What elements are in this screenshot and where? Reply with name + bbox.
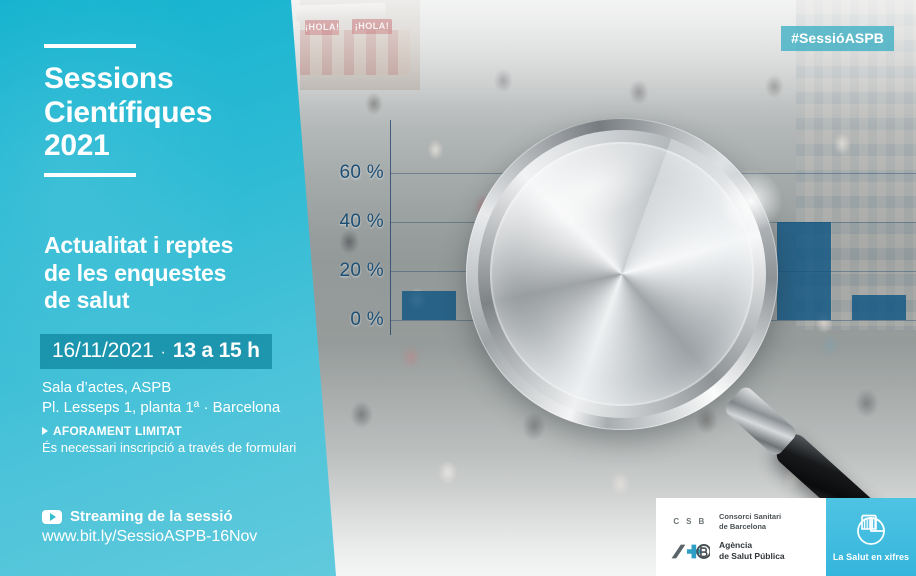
logo-bar: C S B Consorci Sanitari de Barcelona Agè… [656, 498, 916, 576]
venue-line-1: Sala d’actes, ASPB [42, 378, 332, 398]
title-line-1: Sessions [44, 62, 294, 96]
csb-name: Consorci Sanitari de Barcelona [719, 512, 781, 531]
date-separator: · [161, 344, 166, 362]
capacity-notice: AFORAMENT LIMITAT [42, 424, 182, 438]
title-rule-bottom [44, 173, 136, 177]
chart-bar [627, 251, 681, 320]
chart-bar [477, 291, 531, 320]
chart-bar [402, 291, 456, 320]
salut-en-xifres-label: La Salut en xifres [833, 552, 909, 562]
bar-chart: 0 %20 %40 %60 % [330, 120, 916, 335]
poster: ¡HOLA! ¡HOLA! 0 %20 %40 %60 % Sessions C… [0, 0, 916, 576]
title-line-2: Científiques [44, 96, 294, 130]
subtitle-line-1: Actualitat i reptes [44, 232, 302, 260]
csb-monogram: C S B [670, 517, 710, 526]
chart-y-tick-label: 20 % [330, 260, 384, 282]
aspb-name-line-2: de Salut Pública [719, 551, 785, 561]
capacity-notice-label: AFORAMENT LIMITAT [53, 424, 182, 438]
aspb-name: Agència de Salut Pública [719, 540, 785, 561]
subtitle-line-2: de les enquestes [44, 260, 302, 288]
chart-bars [391, 120, 916, 335]
salut-en-xifres-badge[interactable]: La Salut en xifres [826, 498, 916, 576]
chart-bar [777, 222, 831, 320]
chart-bar [702, 227, 756, 320]
csb-logo: C S B Consorci Sanitari de Barcelona [670, 512, 816, 531]
page-title: Sessions Científiques 2021 [44, 62, 294, 163]
venue-line-2: Pl. Lesseps 1, planta 1ª · Barcelona [42, 398, 332, 418]
streaming-url-link[interactable]: www.bit.ly/SessioASPB-16Nov [42, 528, 257, 546]
triangle-bullet-icon [42, 427, 48, 435]
hashtag-badge: #SessióASPB [781, 26, 894, 51]
pie-chart-icon [852, 512, 890, 546]
streaming-label: Streaming de la sessió [70, 508, 233, 525]
aspb-name-line-1: Agència [719, 540, 752, 550]
event-time: 13 a 15 h [173, 339, 260, 363]
title-rule-top [44, 44, 136, 48]
date-time-badge: 16/11/2021 · 13 a 15 h [40, 334, 272, 369]
title-line-3: 2021 [44, 129, 294, 163]
event-date: 16/11/2021 [52, 339, 154, 363]
chart-y-tick-label: 0 % [330, 309, 384, 331]
play-icon [42, 510, 62, 524]
registration-note: És necessari inscripció a través de form… [42, 440, 342, 455]
streaming-row[interactable]: Streaming de la sessió [42, 508, 233, 525]
chart-bar [852, 295, 906, 320]
subtitle-line-3: de salut [44, 287, 302, 315]
chart-y-tick-label: 60 % [330, 162, 384, 184]
session-subtitle: Actualitat i reptes de les enquestes de … [44, 232, 302, 315]
csb-name-line-2: de Barcelona [719, 522, 766, 531]
aspb-monogram-icon [670, 543, 710, 560]
institution-logos: C S B Consorci Sanitari de Barcelona Agè… [656, 498, 826, 576]
chart-y-tick-label: 40 % [330, 211, 384, 233]
aspb-logo: Agència de Salut Pública [670, 540, 816, 561]
chart-bar [552, 232, 606, 320]
csb-name-line-1: Consorci Sanitari [719, 512, 781, 521]
venue-address: Sala d’actes, ASPB Pl. Lesseps 1, planta… [42, 378, 332, 418]
